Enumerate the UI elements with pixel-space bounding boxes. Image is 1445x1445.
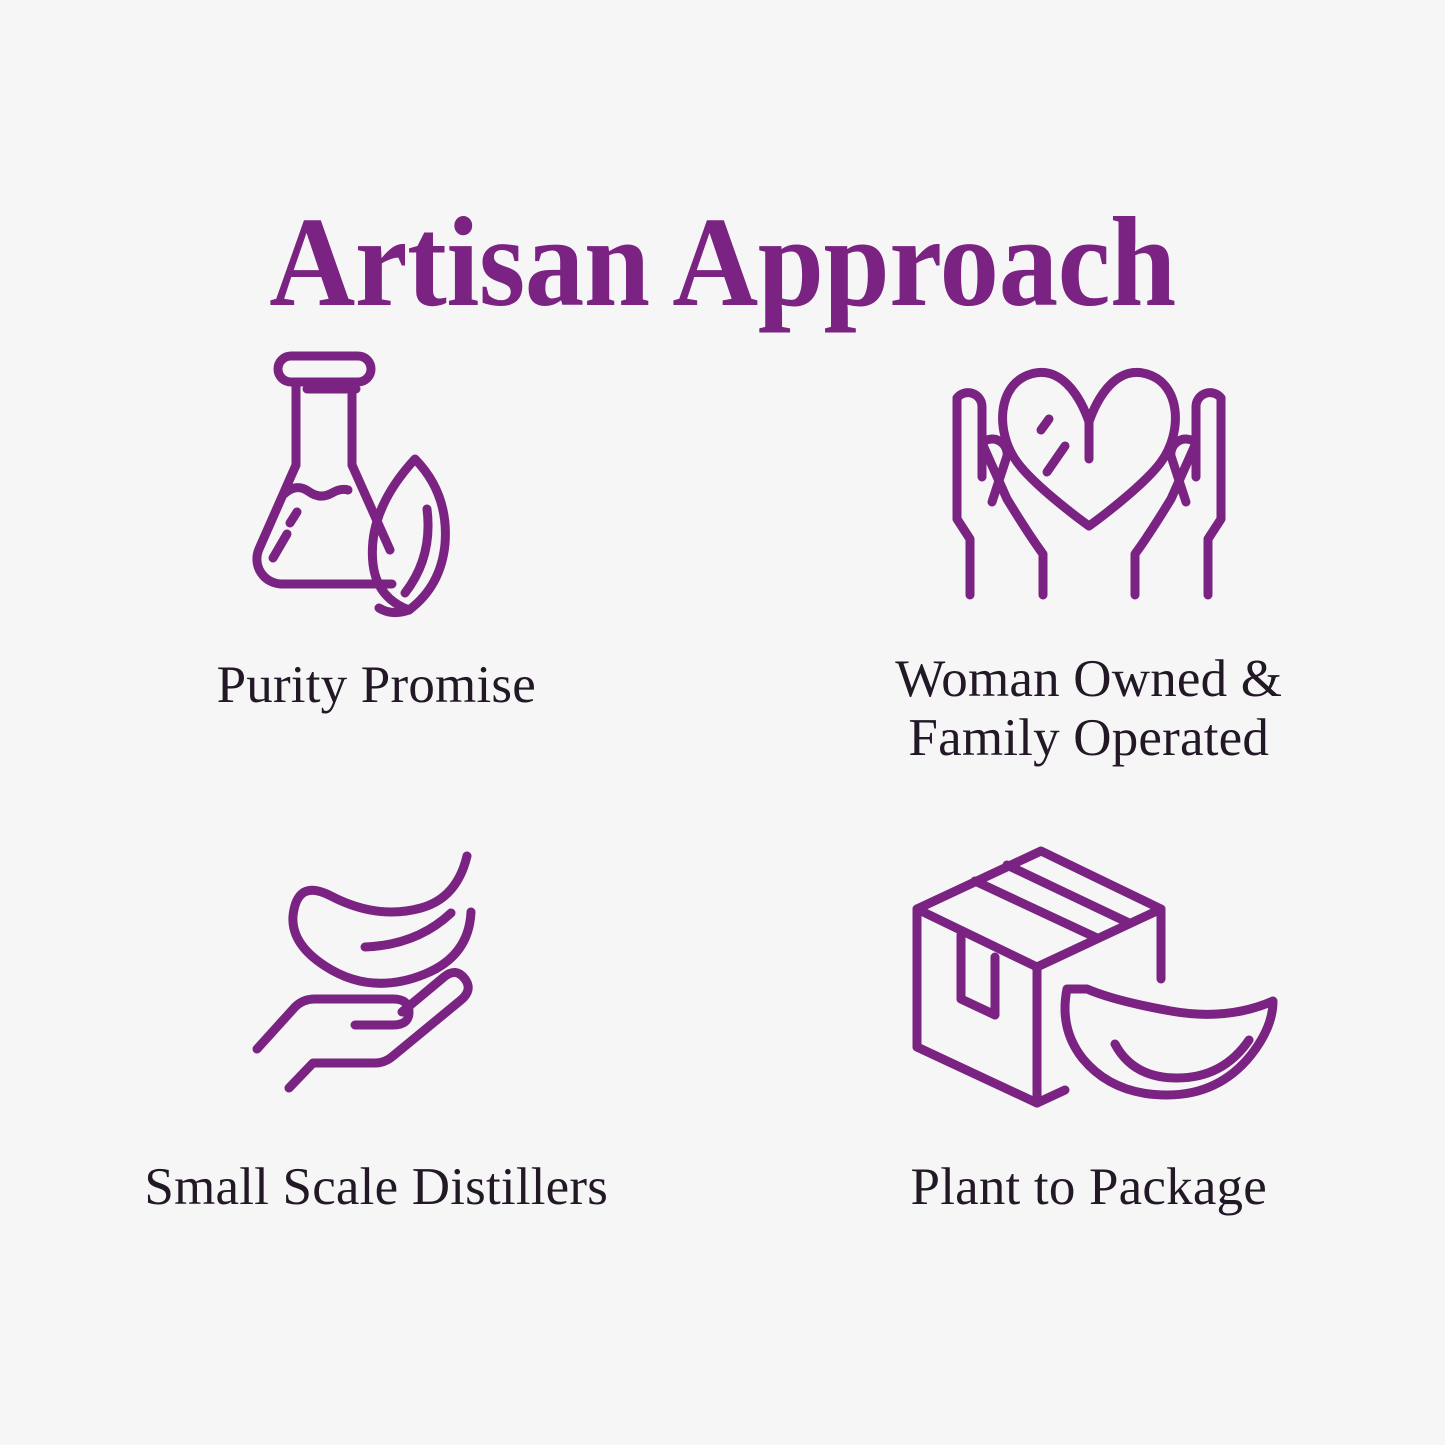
artisan-approach-infographic: Artisan Approach [0,0,1445,1445]
flask-leaf-icon [251,337,501,623]
flask-leaf-icon-wrap [251,330,501,630]
feature-label: Small Scale Distillers [144,1158,608,1217]
feature-grid: Purity Promise [0,330,1445,1330]
box-leaf-icon-wrap [889,830,1289,1120]
feature-plant-to-package: Plant to Package [723,830,1445,1330]
hand-holding-leaf-icon-wrap [245,830,507,1120]
feature-woman-owned-family-operated: Woman Owned & Family Operated [723,330,1445,830]
feature-label: Purity Promise [217,656,536,715]
feature-label: Plant to Package [911,1158,1267,1217]
feature-purity-promise: Purity Promise [0,330,723,830]
feature-label: Woman Owned & Family Operated [895,650,1282,769]
hands-holding-heart-icon [939,354,1239,606]
hand-holding-leaf-icon [245,844,507,1106]
box-leaf-icon [889,839,1289,1111]
page-title: Artisan Approach [51,198,1395,326]
hands-holding-heart-icon-wrap [939,330,1239,630]
feature-small-scale-distillers: Small Scale Distillers [0,830,723,1330]
